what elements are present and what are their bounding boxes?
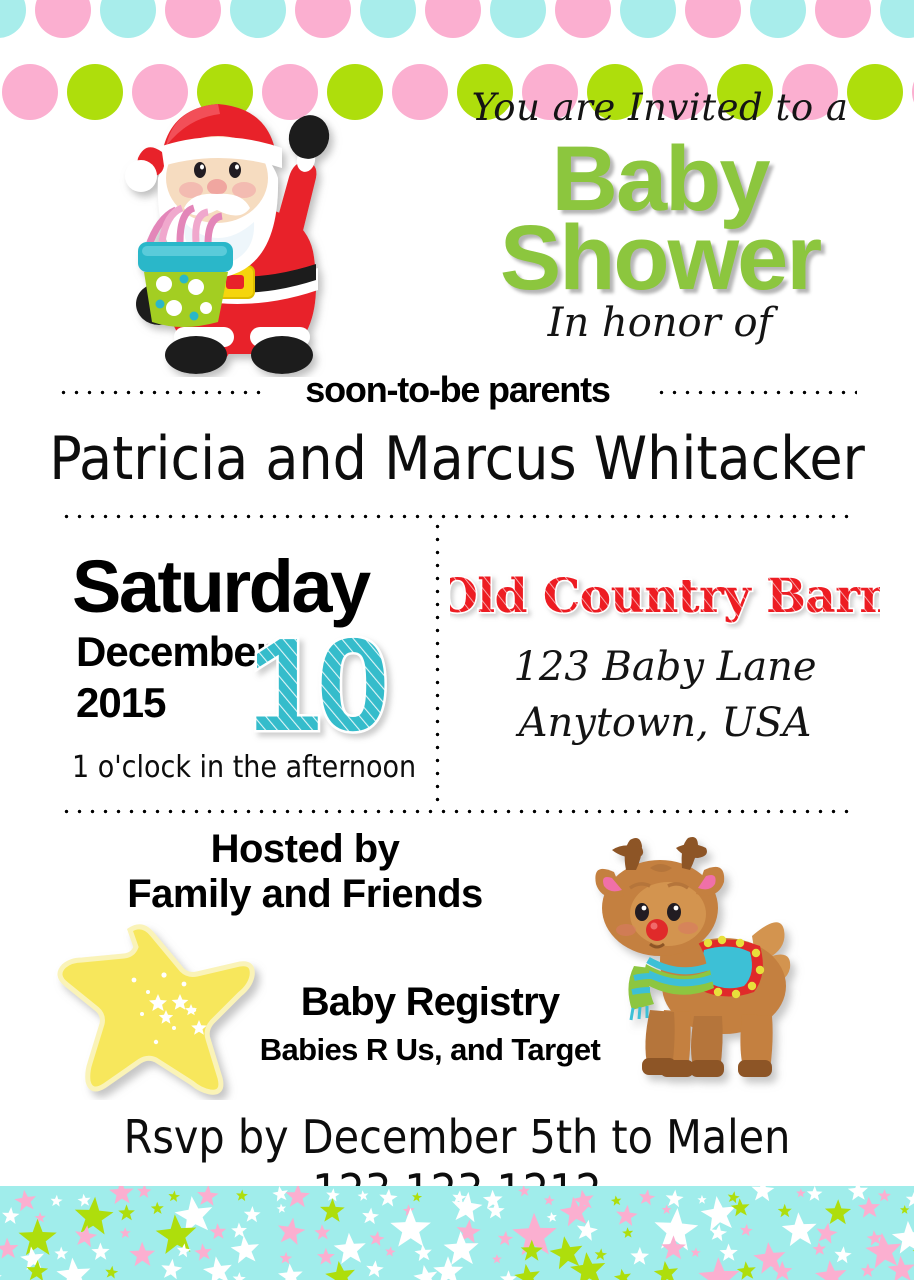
border-star — [614, 1269, 631, 1280]
border-star — [483, 1190, 503, 1209]
polka-dot — [100, 0, 156, 38]
date-day-number-wrap: 10 — [248, 612, 418, 757]
border-star — [370, 1231, 385, 1246]
border-star — [878, 1189, 891, 1202]
polka-dot — [295, 0, 351, 38]
border-star — [203, 1256, 232, 1280]
polka-dot — [392, 64, 448, 120]
border-star — [544, 1195, 555, 1206]
border-star — [2, 1207, 20, 1224]
border-star — [278, 1218, 305, 1245]
border-star — [698, 1257, 739, 1280]
venue-address-line1: 123 Baby Lane — [450, 644, 880, 690]
border-star — [0, 1238, 18, 1259]
border-star — [900, 1205, 909, 1214]
border-star — [56, 1258, 90, 1280]
polka-dot — [880, 0, 914, 38]
border-star — [858, 1197, 880, 1218]
border-star — [75, 1225, 97, 1247]
star-pattern — [0, 1186, 914, 1280]
border-star — [277, 1204, 287, 1214]
date-month: December — [76, 628, 271, 676]
border-star — [498, 1231, 513, 1246]
border-star — [118, 1204, 135, 1220]
border-star — [272, 1186, 288, 1202]
in-honor-of-line: In honor of — [470, 300, 850, 346]
border-star — [233, 1272, 246, 1280]
date-year: 2015 — [76, 679, 165, 727]
border-star — [390, 1208, 431, 1247]
border-star — [412, 1192, 422, 1202]
border-star — [630, 1247, 649, 1265]
polka-dot — [425, 0, 481, 38]
border-star — [778, 1204, 792, 1217]
border-star — [518, 1186, 530, 1197]
border-star — [547, 1212, 557, 1222]
divider-dotted-left — [57, 389, 263, 396]
border-star — [317, 1248, 335, 1265]
border-star — [197, 1186, 219, 1206]
border-star — [105, 1266, 118, 1279]
parents-names: Patricia and Marcus Whitacker — [30, 424, 884, 494]
border-star — [91, 1243, 109, 1261]
border-star — [782, 1212, 817, 1246]
border-star — [210, 1223, 227, 1239]
border-star — [358, 1190, 369, 1201]
border-star — [379, 1189, 397, 1207]
divider-dotted-top — [60, 513, 856, 520]
border-star — [0, 1268, 2, 1280]
border-star — [129, 1242, 155, 1267]
polka-dot — [165, 0, 221, 38]
border-star — [595, 1248, 607, 1260]
border-star — [666, 1190, 684, 1208]
border-star — [514, 1264, 540, 1280]
border-star — [51, 1195, 63, 1207]
hosted-by-names: Family and Friends — [40, 872, 570, 917]
santa-illustration — [96, 82, 346, 377]
border-star — [796, 1188, 806, 1197]
border-star — [325, 1261, 355, 1280]
border-star — [616, 1205, 638, 1226]
border-star — [731, 1198, 750, 1216]
border-star — [906, 1191, 914, 1207]
polka-dot — [35, 0, 91, 38]
border-star — [492, 1254, 502, 1263]
border-star — [807, 1186, 823, 1201]
polka-dot — [620, 0, 676, 38]
date-day-number: 10 — [248, 612, 385, 752]
border-star — [20, 1247, 44, 1271]
venue-name: Old Country Barn — [450, 569, 880, 624]
border-star — [320, 1198, 345, 1222]
border-star — [848, 1186, 868, 1200]
border-star — [362, 1208, 379, 1225]
polka-dot — [360, 0, 416, 38]
date-time: 1 o'clock in the afternoon — [72, 750, 422, 785]
border-star — [817, 1223, 838, 1244]
border-star — [19, 1219, 57, 1255]
polka-dot — [555, 0, 611, 38]
polka-dot — [750, 0, 806, 38]
registry-label: Baby Registry — [230, 980, 630, 1025]
border-star — [54, 1247, 68, 1260]
border-star — [194, 1243, 211, 1260]
bottom-star-border — [0, 1186, 914, 1280]
border-star — [834, 1246, 851, 1263]
divider-dotted-right — [655, 389, 857, 396]
venue-address-line2: Anytown, USA — [450, 700, 880, 746]
dot-row-top — [0, 0, 914, 42]
invitation-card: You are Invited to a Baby Shower In hono… — [0, 0, 914, 1280]
border-star — [751, 1186, 774, 1201]
border-star — [812, 1242, 826, 1255]
polka-dot — [230, 0, 286, 38]
border-star — [701, 1196, 736, 1231]
divider-dotted-vertical — [434, 520, 441, 808]
border-star — [314, 1224, 330, 1239]
border-star — [78, 1194, 91, 1207]
border-star — [231, 1223, 247, 1238]
border-star — [861, 1263, 875, 1277]
border-star — [740, 1224, 753, 1236]
border-star — [151, 1202, 164, 1215]
border-star — [737, 1261, 756, 1280]
border-star — [728, 1191, 740, 1203]
border-star — [161, 1259, 182, 1280]
border-star — [137, 1186, 152, 1198]
border-star — [334, 1233, 366, 1264]
border-star — [662, 1205, 672, 1215]
divider-dotted-bottom — [60, 808, 856, 815]
registry-stores: Babies R Us, and Target — [200, 1032, 660, 1068]
polka-dot — [490, 0, 546, 38]
border-star — [697, 1195, 706, 1204]
polka-dot — [2, 64, 58, 120]
border-star — [622, 1227, 633, 1238]
border-star — [815, 1260, 846, 1280]
border-star — [109, 1186, 134, 1204]
border-star — [577, 1220, 598, 1241]
border-star — [231, 1236, 259, 1264]
border-star — [14, 1190, 36, 1211]
border-star — [366, 1260, 384, 1277]
border-star — [413, 1265, 437, 1280]
border-star — [385, 1246, 395, 1256]
border-star — [415, 1244, 432, 1261]
polka-dot — [0, 0, 26, 38]
border-star — [120, 1227, 131, 1238]
border-star — [280, 1252, 293, 1264]
border-star — [720, 1244, 738, 1262]
invited-line: You are Invited to a — [460, 86, 860, 129]
venue-name-wrap: Old Country Barn — [450, 560, 880, 630]
border-star — [639, 1189, 655, 1205]
border-star — [691, 1247, 701, 1257]
border-star — [825, 1199, 851, 1224]
border-star — [550, 1236, 583, 1269]
border-star — [286, 1186, 310, 1207]
title-line-shower: Shower — [440, 219, 880, 298]
border-star — [244, 1206, 261, 1222]
polka-dot — [685, 0, 741, 38]
border-star — [433, 1256, 463, 1280]
hosted-by-label: Hosted by — [60, 827, 550, 872]
border-star — [500, 1270, 517, 1280]
border-star — [75, 1197, 114, 1235]
border-star — [278, 1264, 303, 1280]
polka-dot — [815, 0, 871, 38]
baby-shower-title: Baby Shower — [440, 140, 880, 298]
border-star — [236, 1190, 248, 1202]
parents-label: soon-to-be parents — [270, 369, 645, 411]
border-star — [168, 1191, 180, 1202]
border-star — [654, 1261, 678, 1280]
border-star — [611, 1196, 621, 1206]
border-star — [35, 1212, 46, 1223]
